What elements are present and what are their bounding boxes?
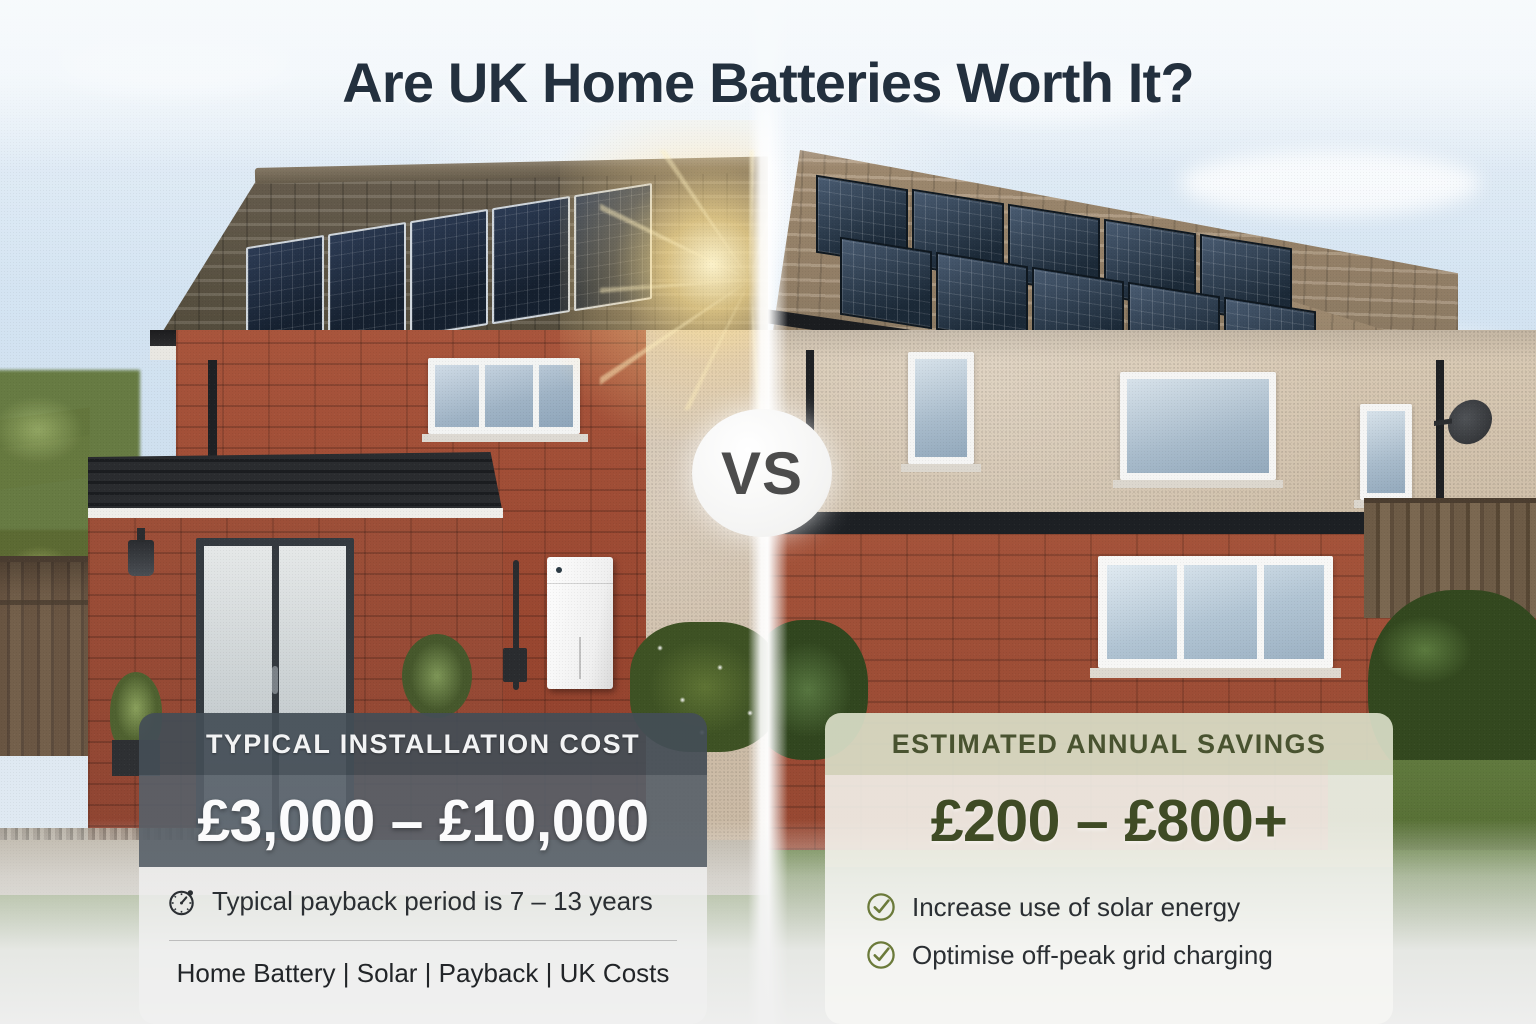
garden-shrub xyxy=(402,634,472,718)
window-sill xyxy=(1113,480,1283,488)
stopwatch-icon xyxy=(165,884,199,918)
upstairs-window-centre xyxy=(1120,372,1276,480)
battery-status-led xyxy=(556,567,562,573)
topic-tags: Home Battery | Solar | Payback | UK Cost… xyxy=(165,958,681,989)
porch-fascia xyxy=(88,508,503,518)
window-sill xyxy=(422,434,588,442)
upstairs-window-left xyxy=(908,352,974,464)
porch-roof xyxy=(88,452,503,514)
wall-shadow xyxy=(768,330,1536,360)
check-circle-icon xyxy=(865,939,897,971)
home-battery-unit xyxy=(547,557,613,689)
solar-panel xyxy=(492,196,570,324)
cost-card-value-band: £3,000 – £10,000 xyxy=(139,775,707,867)
cost-card-body: Typical payback period is 7 – 13 years H… xyxy=(139,867,707,1024)
benefit-text: Optimise off-peak grid charging xyxy=(912,940,1273,971)
savings-value: £200 – £800+ xyxy=(931,787,1288,855)
isolator-box xyxy=(503,648,527,682)
upstairs-window-right xyxy=(1360,404,1412,500)
upstairs-window xyxy=(428,358,580,434)
savings-card-body: Increase use of solar energy Optimise of… xyxy=(825,867,1393,1024)
payback-row: Typical payback period is 7 – 13 years xyxy=(165,884,681,918)
benefit-text: Increase use of solar energy xyxy=(912,892,1240,923)
payback-text: Typical payback period is 7 – 13 years xyxy=(212,886,653,917)
savings-card-heading: ESTIMATED ANNUAL SAVINGS xyxy=(892,729,1327,760)
downstairs-window xyxy=(1098,556,1333,668)
savings-card-header: ESTIMATED ANNUAL SAVINGS xyxy=(825,713,1393,775)
solar-panel xyxy=(574,183,652,311)
solar-panel xyxy=(840,237,932,330)
outdoor-wall-light xyxy=(128,540,154,576)
installation-cost-card: TYPICAL INSTALLATION COST £3,000 – £10,0… xyxy=(139,713,707,1024)
benefit-item: Increase use of solar energy xyxy=(865,891,1359,923)
window-sill xyxy=(1090,668,1341,678)
versus-label: VS xyxy=(721,439,803,508)
infographic-canvas: VS Are UK Home Batteries Worth It? TYPIC… xyxy=(0,0,1536,1024)
downpipe xyxy=(208,360,217,470)
solar-panel xyxy=(410,209,488,337)
page-title: Are UK Home Batteries Worth It? xyxy=(0,50,1536,115)
cost-card-heading: TYPICAL INSTALLATION COST xyxy=(206,729,640,760)
window-sill xyxy=(901,464,981,472)
card-divider-line xyxy=(169,940,677,941)
savings-card-value-band: £200 – £800+ xyxy=(825,775,1393,867)
cost-card-header: TYPICAL INSTALLATION COST xyxy=(139,713,707,775)
benefit-item: Optimise off-peak grid charging xyxy=(865,939,1359,971)
annual-savings-card: ESTIMATED ANNUAL SAVINGS £200 – £800+ In… xyxy=(825,713,1393,1024)
versus-badge: VS xyxy=(692,409,832,537)
check-circle-icon xyxy=(865,891,897,923)
cost-value: £3,000 – £10,000 xyxy=(197,787,648,855)
